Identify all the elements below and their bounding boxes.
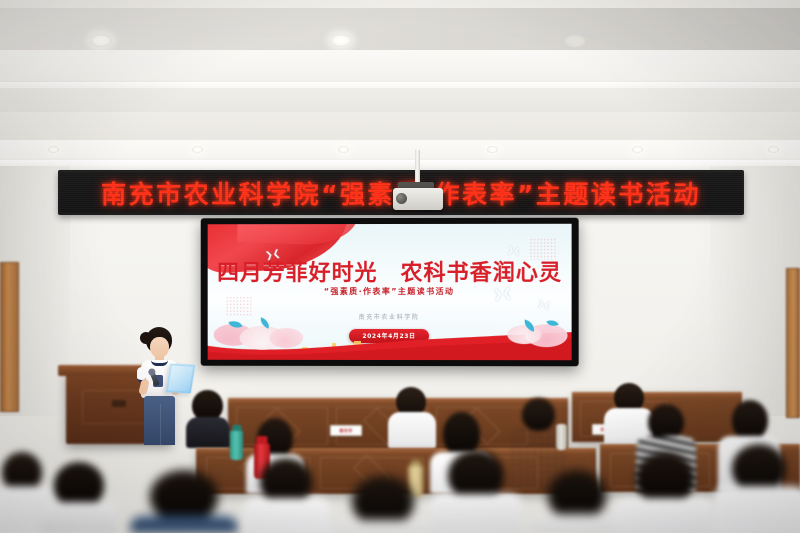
ceiling-panel-grey bbox=[0, 8, 800, 52]
attendee-torso bbox=[430, 494, 522, 533]
dove-icon: ❯❮ bbox=[537, 299, 552, 311]
projection-screen-bezel: ❯❮ ❯❮ ❯❮ ❯❮ 四月芳菲好时光 农科书香润心灵 “强素质·作表率”主题读… bbox=[201, 218, 579, 367]
name-placard: 南充市 bbox=[330, 425, 362, 436]
bottle-cap bbox=[257, 436, 268, 444]
attendee-torso bbox=[614, 498, 714, 533]
attendee-head bbox=[636, 452, 694, 504]
attendee-foreground bbox=[130, 470, 238, 533]
attendee-torso bbox=[186, 417, 230, 448]
conference-hall-photo: 南充市农业科学院“强素质·作表率”主题读书活动 ❯❮ ❯❮ ❯❮ ❯❮ 四月芳菲… bbox=[0, 0, 800, 533]
door-left[interactable] bbox=[0, 262, 19, 412]
bottle-white bbox=[556, 424, 567, 450]
ceiling-downlight bbox=[487, 146, 498, 153]
door-right[interactable] bbox=[786, 268, 800, 418]
attendee-torso bbox=[388, 412, 436, 449]
ceiling-band-second bbox=[0, 50, 800, 86]
desk-edge bbox=[572, 392, 742, 398]
projection-screen: ❯❮ ❯❮ ❯❮ ❯❮ 四月芳菲好时光 农科书香润心灵 “强素质·作表率”主题读… bbox=[208, 224, 572, 360]
attendee-torso bbox=[130, 516, 238, 533]
ceiling-downlight bbox=[90, 34, 112, 47]
attendee bbox=[186, 390, 230, 448]
attendee-foreground bbox=[40, 462, 118, 533]
attendee-torso bbox=[714, 486, 800, 533]
ceiling-downlight bbox=[330, 34, 352, 47]
attendee-head bbox=[648, 404, 684, 440]
speaker-presenter bbox=[128, 327, 190, 445]
bottle-cap bbox=[232, 425, 241, 431]
attendee-head bbox=[352, 476, 414, 526]
podium-emblem bbox=[112, 400, 126, 407]
speaker-face bbox=[150, 337, 169, 358]
peony-flower-decoration bbox=[507, 325, 541, 344]
attendee-foreground bbox=[430, 450, 522, 533]
ceiling-downlight bbox=[632, 146, 643, 153]
slide-title: 四月芳菲好时光 农科书香润心灵 bbox=[208, 255, 572, 287]
attendee-head bbox=[732, 444, 786, 492]
ceiling-downlight bbox=[192, 146, 203, 153]
slide-subtitle: “强素质·作表率”主题读书活动 bbox=[208, 286, 572, 297]
attendee-torso bbox=[244, 498, 330, 533]
placard-text: 南充市 bbox=[331, 426, 361, 435]
attendee-foreground bbox=[528, 470, 624, 533]
attendee-torso bbox=[528, 514, 624, 533]
attendee-foreground bbox=[714, 444, 800, 533]
thermos-bottle-teal bbox=[230, 430, 243, 460]
attendee bbox=[388, 387, 436, 449]
ceiling-downlight bbox=[48, 146, 59, 153]
attendee-torso bbox=[330, 520, 434, 533]
attendee-head bbox=[548, 470, 606, 520]
attendee-head bbox=[448, 450, 504, 500]
ceiling-downlight-off bbox=[565, 35, 585, 47]
attendee-head bbox=[732, 400, 768, 440]
peony-flower-decoration bbox=[269, 328, 303, 348]
attendee-head bbox=[150, 470, 218, 522]
bottle-cap bbox=[411, 460, 421, 466]
attendee-foreground bbox=[614, 452, 714, 533]
attendee-foreground bbox=[244, 458, 330, 533]
projector-icon bbox=[393, 188, 443, 210]
attendee-foreground bbox=[330, 476, 434, 533]
ceiling-downlight bbox=[338, 146, 349, 153]
speaker-folder bbox=[166, 364, 196, 394]
speaker-jeans bbox=[144, 396, 175, 445]
attendee-torso bbox=[40, 502, 118, 533]
ceiling-downlight bbox=[768, 146, 779, 153]
projector-lens bbox=[396, 193, 407, 204]
